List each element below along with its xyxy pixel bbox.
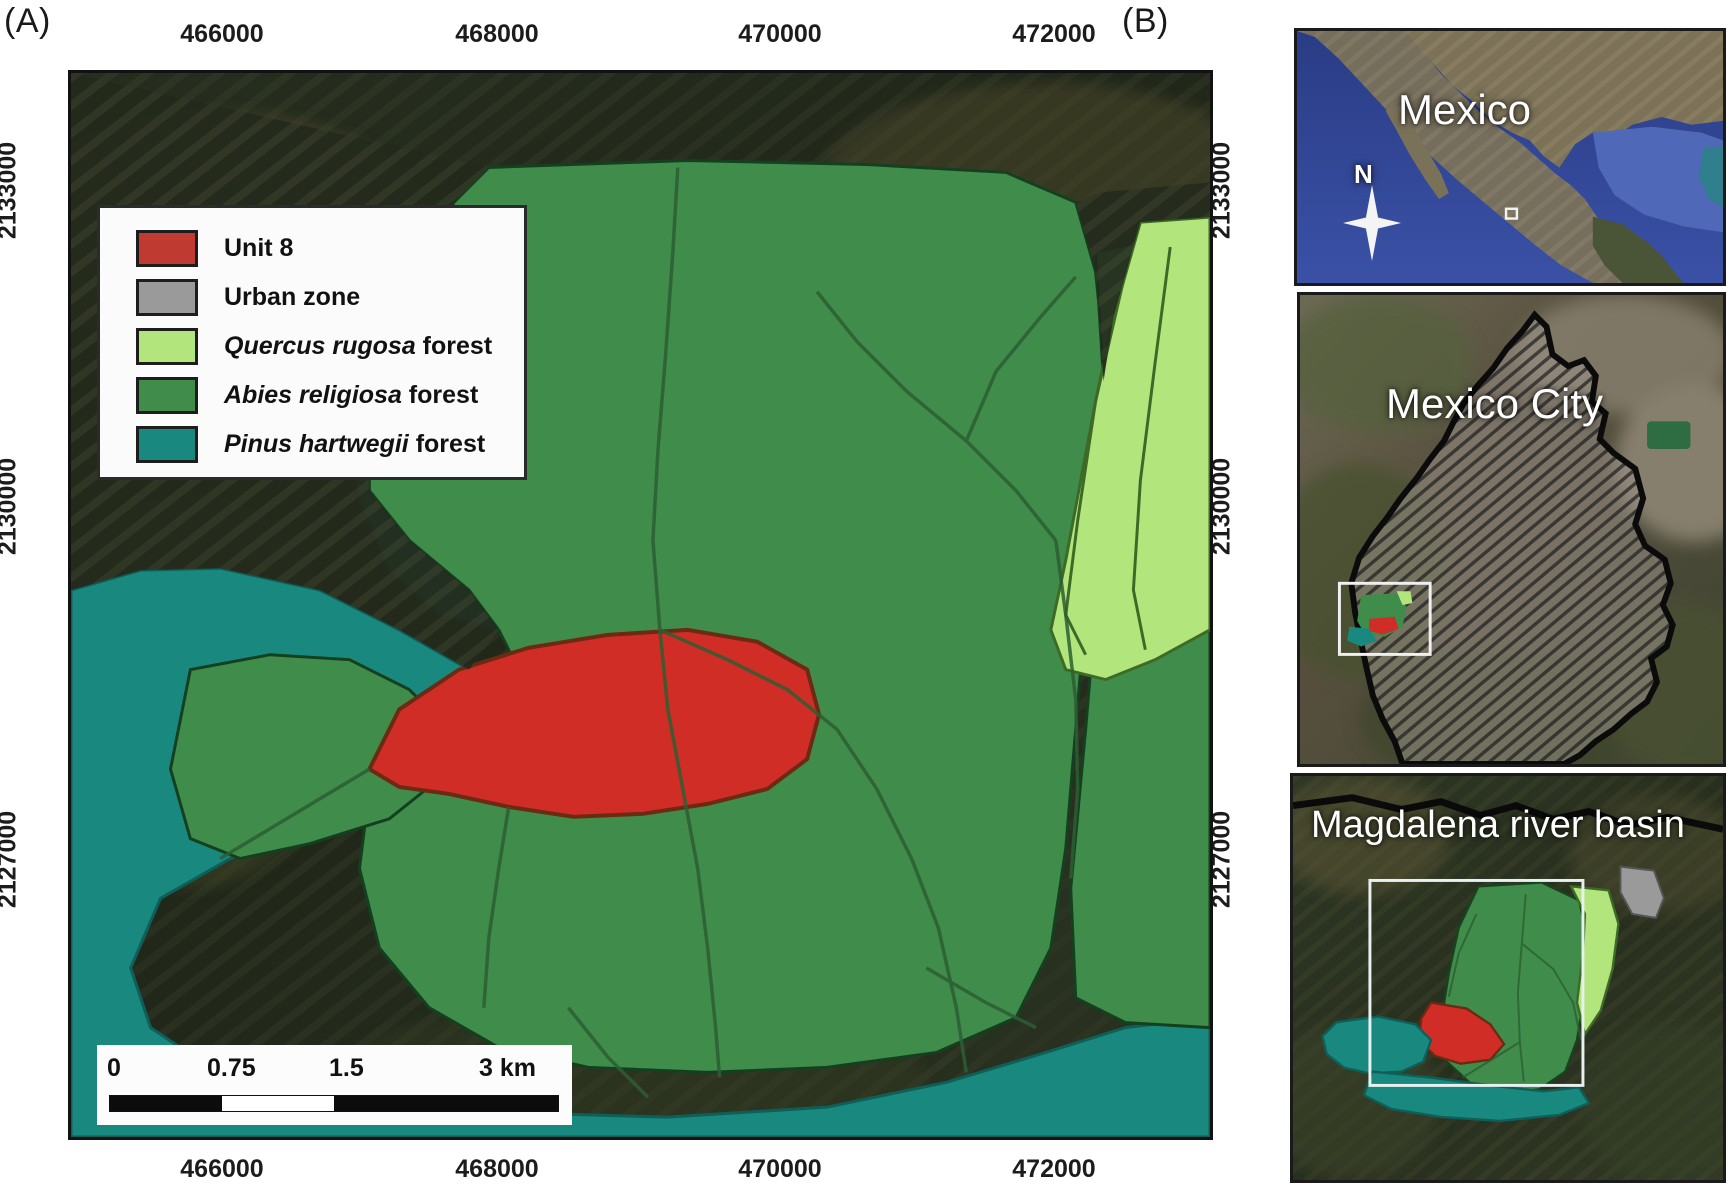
legend-label-quercus-rugosa-suffix: forest [416, 332, 492, 360]
scalebar-tick-2: 1.5 [329, 1054, 364, 1083]
legend-swatch-unit-8 [136, 230, 198, 267]
inset-magdalena-graphic [1293, 776, 1723, 1180]
legend-label-pinus-hartwegii-species: Pinus hartwegii [224, 430, 409, 458]
axis-y-left-tick-0: 2133000 [0, 142, 23, 239]
axis-x-top-tick-0: 466000 [180, 20, 263, 49]
panel-b: (B) [1270, 0, 1729, 1201]
axis-x-bottom-tick-3: 472000 [1012, 1155, 1095, 1184]
map-scalebar: 0 0.75 1.5 3 km [97, 1045, 572, 1125]
axis-y-left-tick-2: 2127000 [0, 811, 23, 908]
legend-label-pinus-hartwegii: Pinus hartwegii forest [224, 430, 485, 459]
scalebar-segment-2 [222, 1096, 334, 1111]
legend-item-quercus-rugosa: Quercus rugosa forest [136, 322, 524, 371]
scalebar-segment-1 [110, 1096, 222, 1111]
inset-map-mexico-city[interactable] [1297, 292, 1726, 767]
legend-label-abies-religiosa-suffix: forest [402, 381, 478, 409]
green-patch [1647, 421, 1690, 449]
legend-label-quercus-rugosa-species: Quercus rugosa [224, 332, 416, 360]
legend-label-abies-religiosa-species: Abies religiosa [224, 381, 402, 409]
panel-b-label: (B) [1122, 2, 1169, 41]
axis-x-bottom-tick-0: 466000 [180, 1155, 263, 1184]
legend-swatch-abies-religiosa [136, 377, 198, 414]
legend-swatch-urban-zone [136, 279, 198, 316]
axis-x-top-tick-2: 470000 [738, 20, 821, 49]
inset-mexico-city-graphic [1300, 295, 1723, 764]
axis-x-bottom-tick-2: 470000 [738, 1155, 821, 1184]
axis-x-top-tick-1: 468000 [455, 20, 538, 49]
scalebar-bar [109, 1095, 559, 1112]
legend-item-abies-religiosa: Abies religiosa forest [136, 371, 524, 420]
panel-a-label: (A) [4, 2, 51, 41]
scalebar-tick-0: 0 [107, 1054, 121, 1083]
legend-label-urban-zone: Urban zone [224, 283, 360, 312]
legend-label-pinus-hartwegii-suffix: forest [409, 430, 485, 458]
inset-map-magdalena-basin[interactable]: Magdalena river basin [1290, 773, 1726, 1183]
legend-item-urban-zone: Urban zone [136, 273, 524, 322]
legend-swatch-pinus-hartwegii [136, 426, 198, 463]
map-legend: Unit 8 Urban zone Quercus rugosa forest … [97, 205, 527, 480]
axis-y-left-tick-1: 2130000 [0, 458, 23, 555]
scalebar-tick-3: 3 km [479, 1054, 536, 1083]
panel-a: (A) 466000 468000 470000 472000 466000 4… [0, 0, 1270, 1201]
inset-map-mexico[interactable]: N [1294, 28, 1726, 286]
legend-item-pinus-hartwegii: Pinus hartwegii forest [136, 420, 524, 469]
axis-x-top-tick-3: 472000 [1012, 20, 1095, 49]
legend-swatch-quercus-rugosa [136, 328, 198, 365]
scalebar-tick-1: 0.75 [207, 1054, 256, 1083]
figure-root: (A) 466000 468000 470000 472000 466000 4… [0, 0, 1729, 1201]
scalebar-labels: 0 0.75 1.5 3 km [97, 1049, 572, 1089]
legend-item-unit-8: Unit 8 [136, 224, 524, 273]
axis-x-bottom-tick-1: 468000 [455, 1155, 538, 1184]
legend-label-quercus-rugosa: Quercus rugosa forest [224, 332, 492, 361]
legend-label-unit-8: Unit 8 [224, 234, 293, 263]
compass-rose-icon [1341, 183, 1403, 263]
legend-label-abies-religiosa: Abies religiosa forest [224, 381, 478, 410]
scalebar-segment-3 [334, 1096, 558, 1111]
